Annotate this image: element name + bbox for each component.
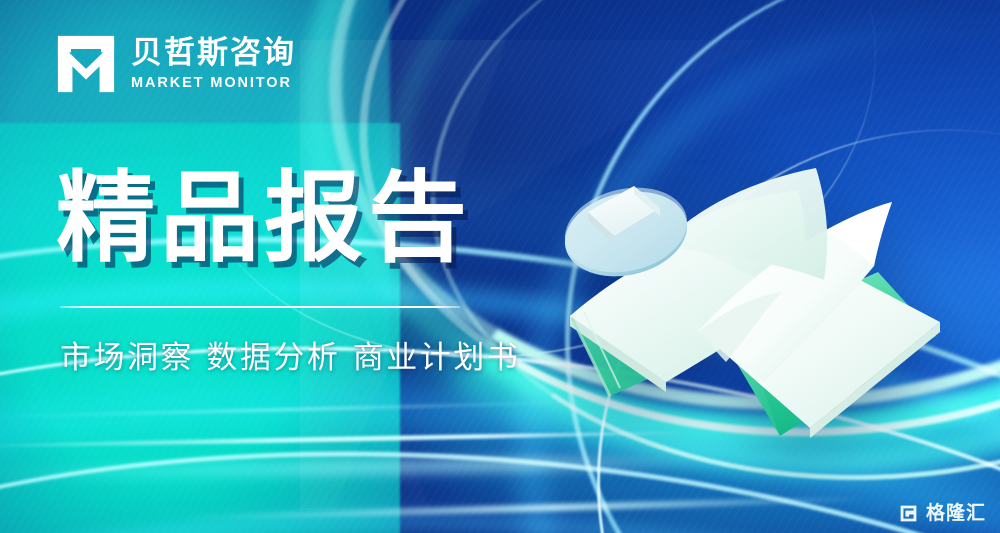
page-title: 精品报告 [56, 168, 526, 271]
source-watermark: 格隆汇 [898, 503, 986, 524]
gelonghui-g-icon [898, 503, 919, 524]
watermark-text: 格隆汇 [926, 504, 986, 523]
hero-subtitle: 市场洞察 数据分析 商业计划书 [60, 332, 526, 377]
report-banner: 贝哲斯咨询 MARKET MONITOR 精品报告 市场洞察 数据分析 商业计划… [0, 0, 1000, 533]
title-divider [60, 306, 460, 308]
logo-text-block: 贝哲斯咨询 MARKET MONITOR [131, 37, 296, 91]
open-book-illustration [548, 150, 948, 440]
logo-english-name: MARKET MONITOR [131, 75, 296, 91]
market-monitor-m-mark-icon [55, 33, 117, 95]
logo-chinese-name: 贝哲斯咨询 [131, 37, 296, 70]
brand-logo[interactable]: 贝哲斯咨询 MARKET MONITOR [55, 33, 296, 95]
hero-text-block: 精品报告 市场洞察 数据分析 商业计划书 [56, 168, 526, 377]
